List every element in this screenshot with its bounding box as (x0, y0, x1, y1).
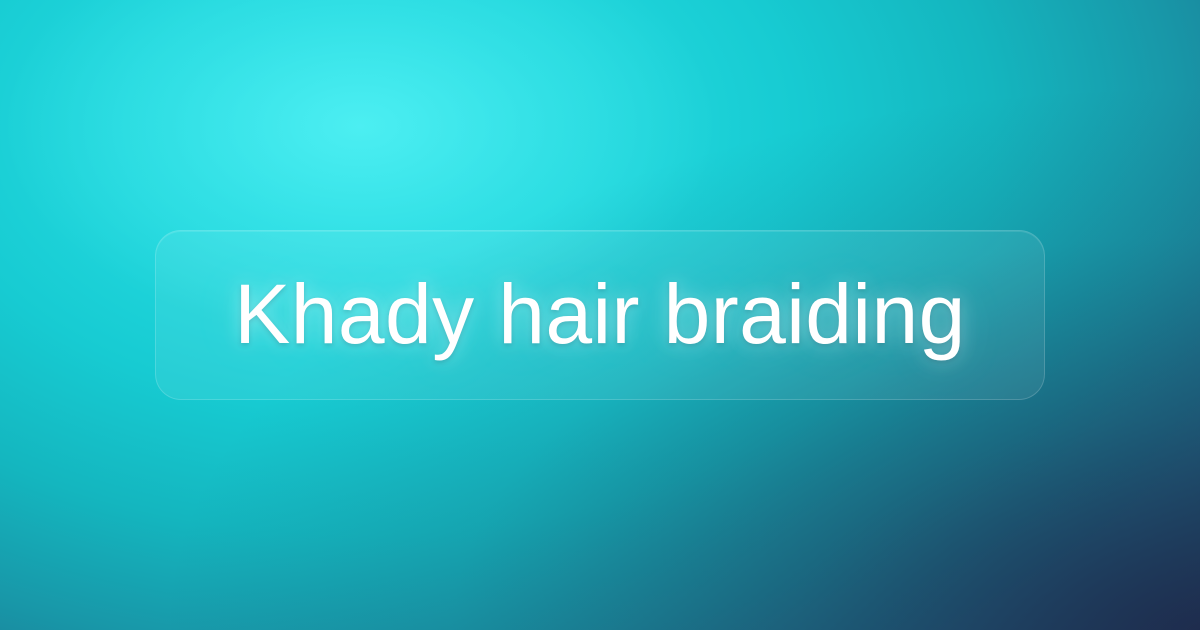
page-title: Khady hair braiding (234, 272, 965, 358)
og-image-canvas: Khady hair braiding (0, 0, 1200, 630)
title-card: Khady hair braiding (155, 230, 1045, 400)
